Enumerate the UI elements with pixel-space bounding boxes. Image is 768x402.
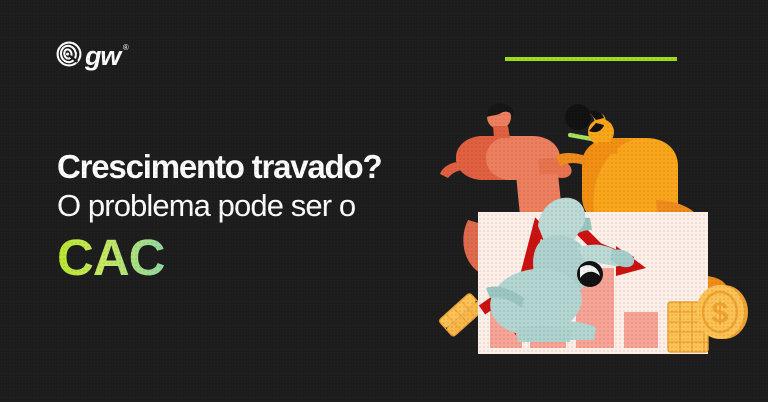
spiral-target-icon <box>56 41 82 72</box>
coin-stack-left-icon <box>438 293 484 337</box>
headline-block: Crescimento travado? O problema pode ser… <box>57 148 381 286</box>
accent-rule-divider <box>505 57 677 61</box>
bar-4 <box>624 312 658 348</box>
brand-wordmark: gw <box>85 43 120 70</box>
headline-keyword-cac: CAC <box>57 229 165 286</box>
headline-line-1: Crescimento travado? <box>57 148 381 186</box>
brand-logo[interactable]: gw ® <box>56 41 129 72</box>
tug-of-war-illustration: $ <box>420 90 768 365</box>
svg-text:$: $ <box>712 297 729 330</box>
headline-line-2: O problema pode ser o <box>57 186 381 226</box>
dollar-coin-icon: $ <box>696 285 748 339</box>
banner-canvas: gw ® Crescimento travado? O problema pod… <box>0 0 768 402</box>
trademark-mark: ® <box>123 44 129 52</box>
